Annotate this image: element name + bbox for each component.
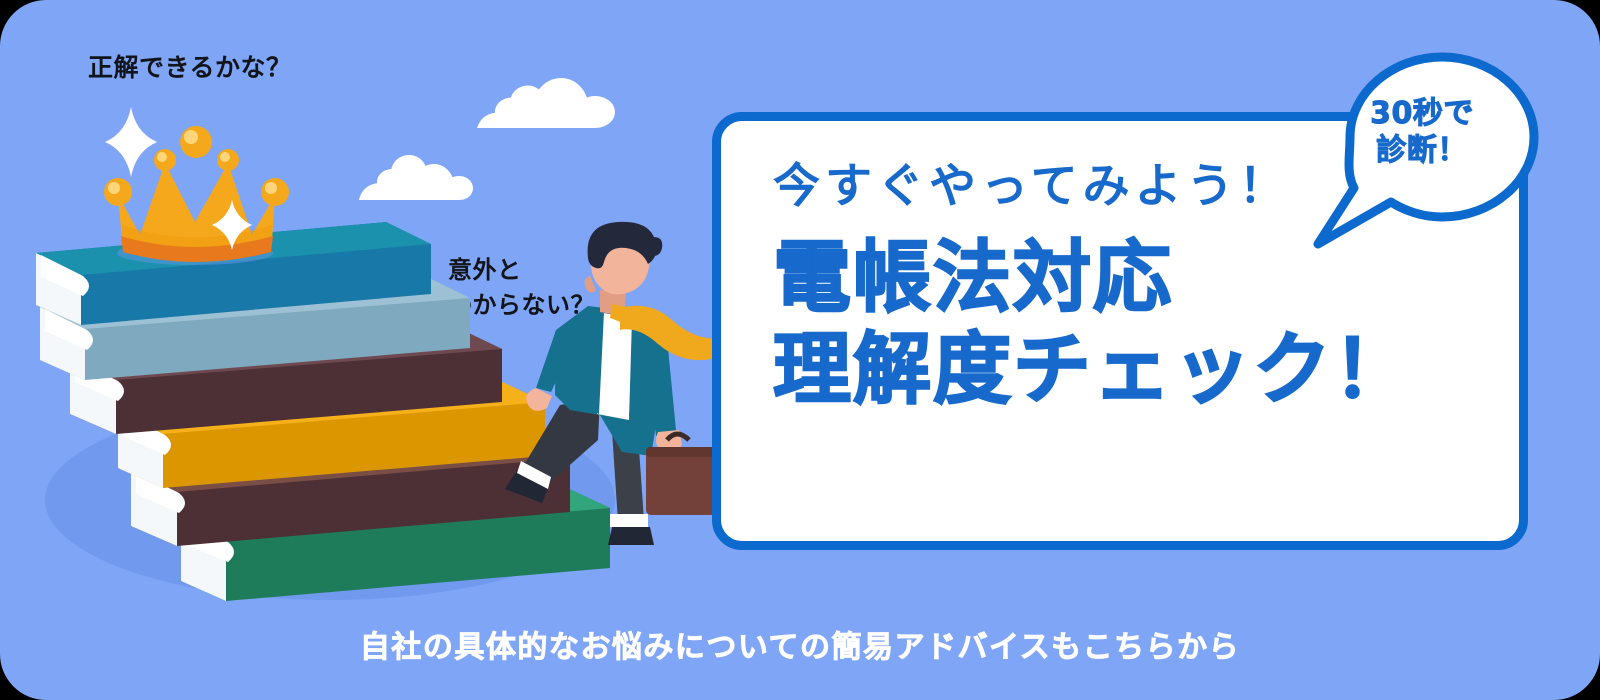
footer-note: 自社の具体的なお悩みについての簡易アドバイスもこちらから [0,622,1600,666]
card-heading-line2: 理解度チェック！ [773,324,1479,416]
illustration-books-and-businessman [0,0,720,640]
promo-banner[interactable]: 正解できるかな？ 意外と わからない？ [0,0,1600,700]
speech-bubble-badge[interactable]: 30秒で 診断！ [1296,48,1544,253]
speech-bubble-text: 30秒で 診断！ [1332,96,1512,169]
sparkle-icon-large [105,107,157,177]
briefcase-icon [646,434,720,515]
